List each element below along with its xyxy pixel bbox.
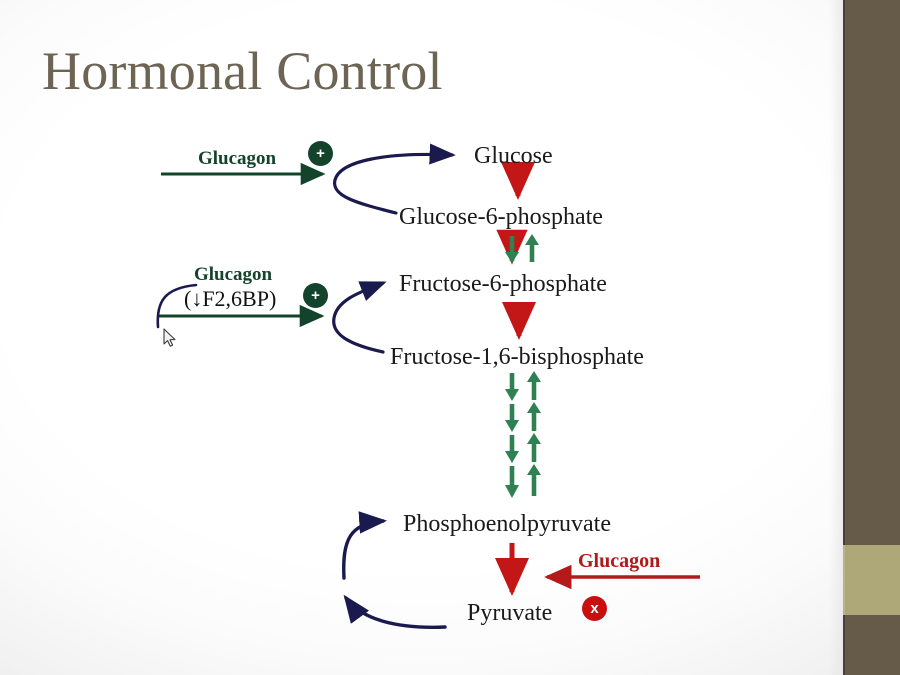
node-fructose-6-phosphate: Fructose-6-phosphate [399,271,607,298]
slide-canvas: Hormonal Control [0,0,900,675]
arrow-pair-f16bp-pep-1 [505,371,541,401]
arrow-pair-f16bp-pep-2 [505,402,541,432]
arrow-pair-g6p-f6p [505,234,539,263]
node-pyruvate: Pyruvate [467,600,552,627]
label-glucagon-bottom: Glucagon [578,550,660,573]
plus-circle-icon-middle: + [303,283,328,308]
diagram-arrow-layer [0,0,900,675]
mouse-cursor-icon [163,328,177,353]
node-glucose: Glucose [474,143,553,170]
arrow-bypass-pyruvate-to-pep-upper [344,521,383,578]
arrow-bypass-pyruvate-to-pep-lower [346,598,445,627]
label-glucagon-top: Glucagon [198,148,276,170]
rail-segment-top [843,0,900,545]
label-glucagon-middle: Glucagon [194,264,272,286]
rail-segment-middle [843,545,900,615]
arrow-bypass-f16bp-to-f6p [334,283,383,352]
page-title: Hormonal Control [42,44,443,98]
arrow-pair-f16bp-pep-3 [505,433,541,463]
x-circle-icon: x [582,596,607,621]
label-glucagon-middle-note: (↓F2,6BP) [184,286,276,312]
node-fructose-1-6-bisphosphate: Fructose-1,6-bisphosphate [390,344,644,371]
plus-circle-icon-top: + [308,141,333,166]
node-phosphoenolpyruvate: Phosphoenolpyruvate [403,511,611,538]
rail-segment-bottom [843,615,900,675]
arrow-pair-f16bp-pep-4 [505,464,541,498]
node-glucose-6-phosphate: Glucose-6-phosphate [399,204,603,231]
